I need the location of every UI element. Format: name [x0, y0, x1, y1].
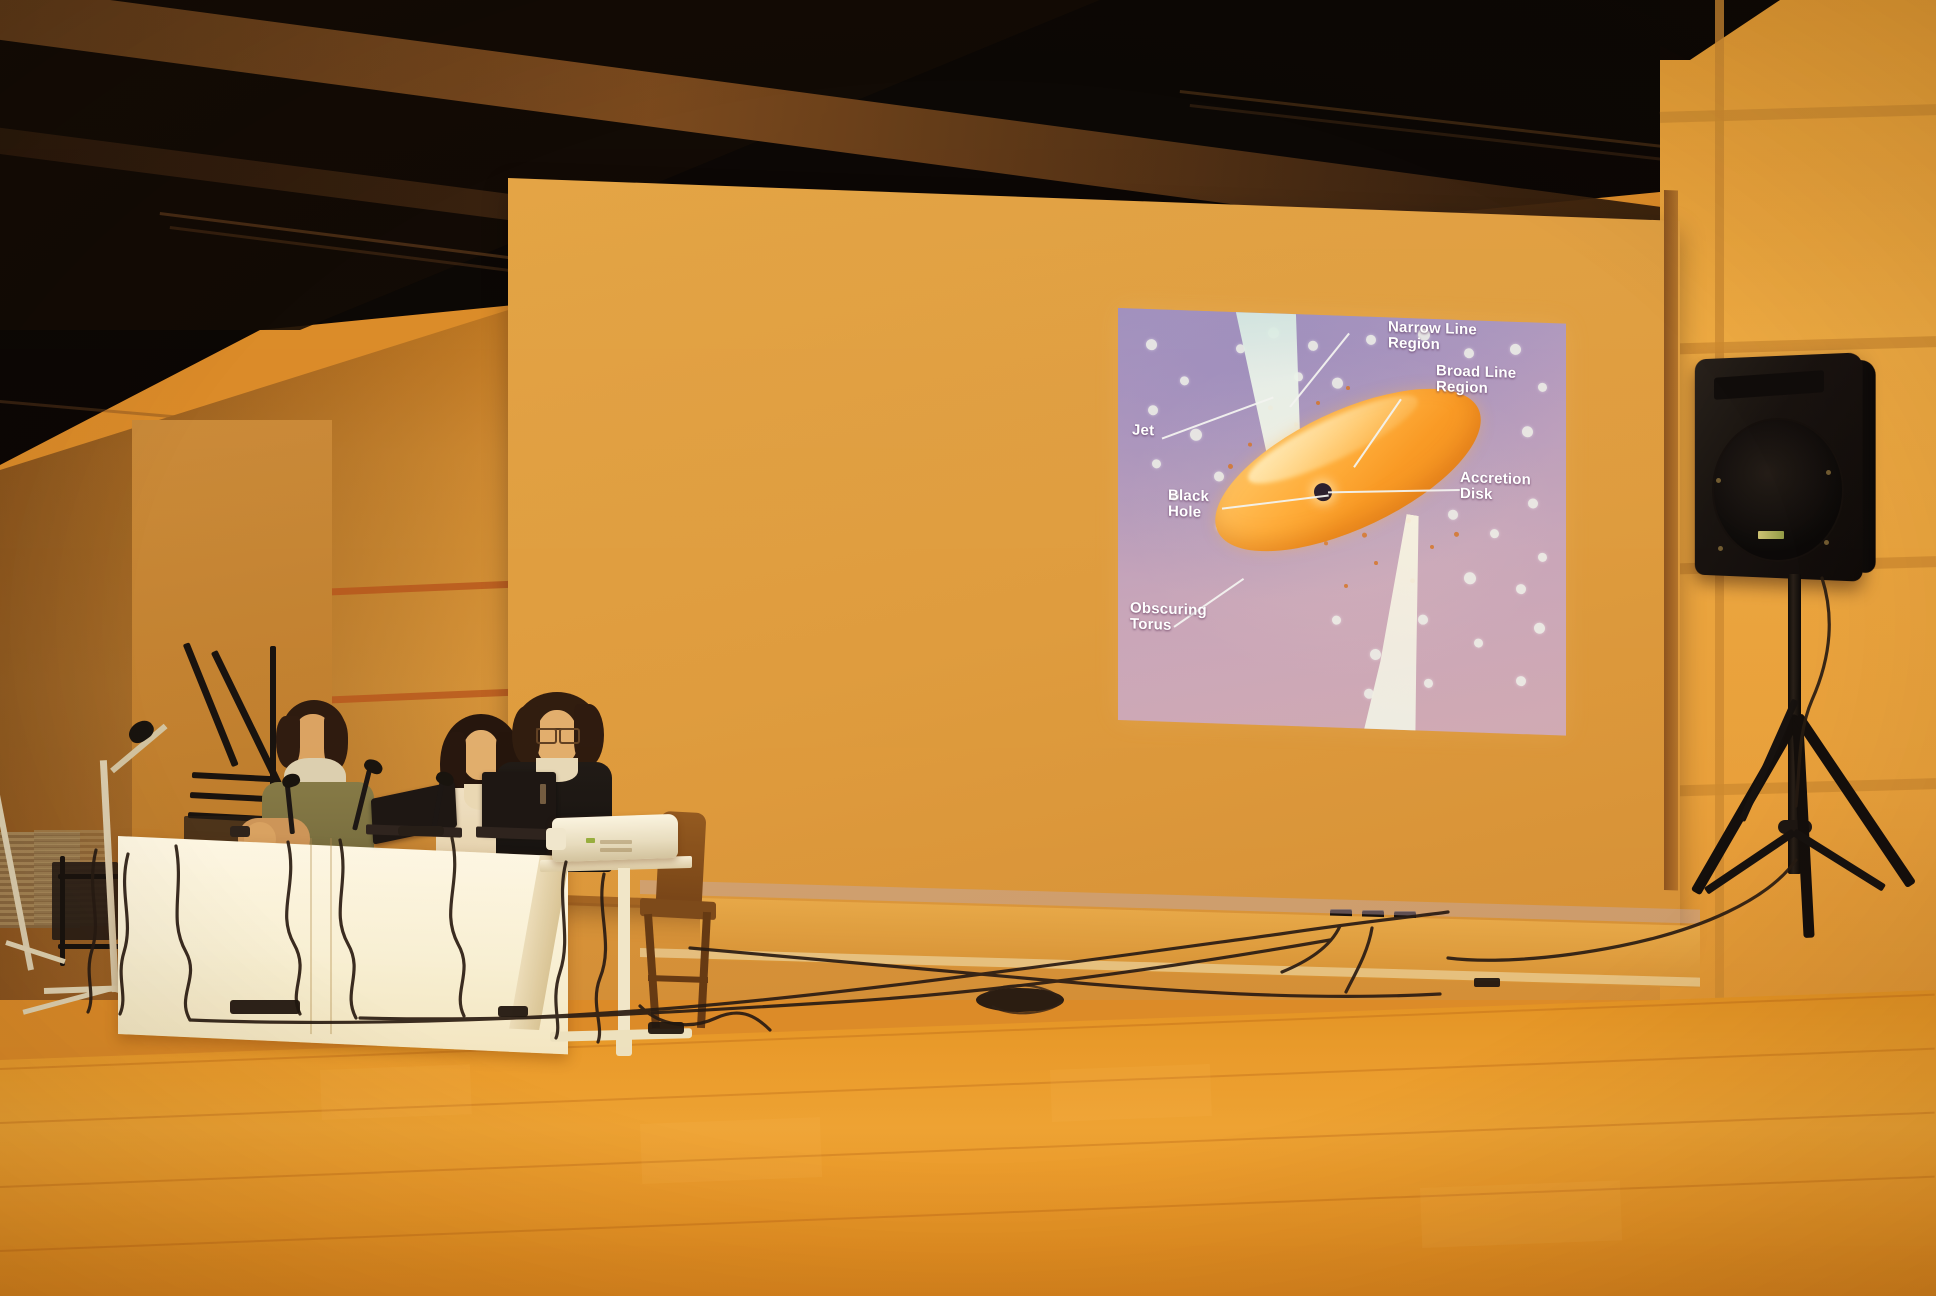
dust-speck — [1454, 532, 1459, 537]
star-dot — [1370, 649, 1381, 660]
slide-label-narrow-line-region: Narrow Line Region — [1388, 319, 1477, 353]
star-dot — [1332, 615, 1341, 624]
equipment-cart-frame-vertical-left — [60, 856, 65, 966]
projector-vent-2 — [600, 848, 632, 852]
floor-plank-block — [640, 1117, 822, 1184]
star-dot — [1146, 339, 1157, 350]
star-dot — [1510, 344, 1521, 355]
star-dot — [1308, 341, 1318, 351]
star-dot — [1516, 584, 1526, 594]
presenter-table-seam-1 — [310, 838, 312, 1034]
slide-label-accretion-disk: Accretion Disk — [1460, 470, 1531, 504]
slide-label-jet: Jet — [1132, 422, 1154, 438]
pa-speaker-screw — [1824, 540, 1829, 545]
slide-label-broad-line-region: Broad Line Region — [1436, 363, 1516, 397]
star-dot — [1152, 459, 1161, 468]
star-dot — [1332, 377, 1343, 388]
floor-plank-block — [320, 1064, 472, 1120]
star-dot — [1538, 383, 1547, 392]
leader-line-jet — [1162, 397, 1274, 440]
star-dot — [1214, 471, 1224, 481]
pa-speaker-screw — [1716, 478, 1721, 483]
slide-label-obscuring-torus: Obscuring Torus — [1130, 600, 1207, 634]
desk-item-cable-coil — [398, 826, 444, 836]
presenter-table-front — [118, 836, 568, 1054]
pa-speaker-screw — [1826, 470, 1831, 475]
photo-scene: Narrow Line Region Broad Line Region Jet… — [0, 0, 1936, 1296]
dust-speck — [1362, 533, 1367, 538]
leader-line-narrow-line-region — [1289, 333, 1350, 408]
star-dot — [1534, 623, 1545, 634]
desk-item-puck — [230, 826, 250, 837]
projector-vent-1 — [600, 840, 632, 844]
projector-trolley-foot-stub — [616, 1030, 632, 1056]
star-dot — [1538, 553, 1547, 562]
presenter-right-glasses-lens-r — [559, 728, 580, 744]
star-dot — [1148, 405, 1158, 415]
star-dot — [1490, 529, 1499, 538]
projected-slide: Narrow Line Region Broad Line Region Jet… — [1118, 308, 1566, 736]
projector-lens — [546, 828, 566, 850]
star-dot — [1474, 638, 1483, 647]
laptop-right-hinge-badge — [540, 784, 546, 804]
slide-label-black-hole: Black Hole — [1168, 488, 1209, 521]
dust-speck — [1346, 386, 1350, 390]
star-dot — [1516, 676, 1526, 686]
star-dot — [1180, 376, 1189, 385]
projection-board-right-edge — [1664, 190, 1678, 891]
star-dot — [1522, 426, 1533, 437]
pa-speaker-screw — [1718, 546, 1723, 551]
star-dot — [1366, 335, 1376, 345]
cable-coil-loop-2 — [992, 1002, 1062, 1013]
star-dot — [1418, 614, 1428, 624]
presenter-table-seam-2 — [330, 838, 332, 1034]
star-dot — [1424, 679, 1433, 688]
dust-speck — [1374, 561, 1378, 565]
dust-speck — [1228, 464, 1233, 469]
projector-indicator-light — [586, 838, 595, 843]
dust-speck — [1430, 545, 1434, 549]
star-dot — [1448, 510, 1458, 520]
presenter-right-glasses-lens-l — [536, 728, 557, 744]
pa-speaker-badge — [1758, 531, 1784, 539]
floor-plank-block — [1420, 1180, 1622, 1248]
star-dot — [1190, 429, 1202, 441]
dust-speck — [1344, 584, 1348, 588]
projector-trolley-post — [618, 868, 630, 1034]
dust-speck — [1248, 443, 1252, 447]
star-dot — [1464, 572, 1476, 584]
floor-plank-block — [1050, 1064, 1212, 1122]
data-projector — [552, 814, 678, 862]
dust-speck — [1316, 401, 1320, 405]
